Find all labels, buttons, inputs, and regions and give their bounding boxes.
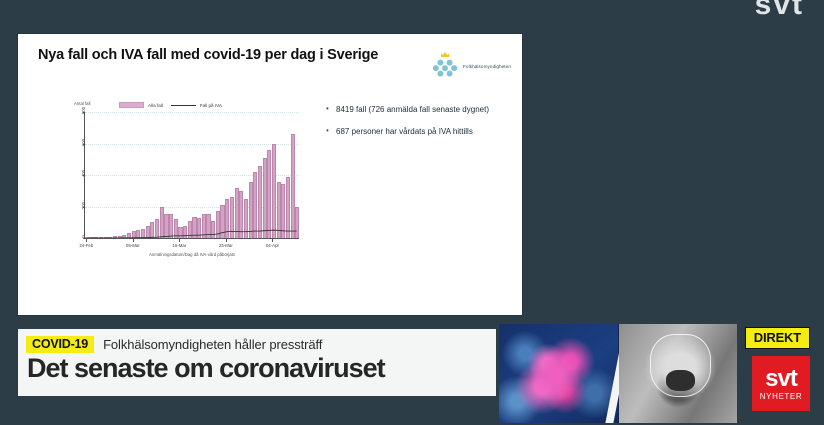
svt-watermark: svt [755,0,804,22]
chart-x-tick-mark [86,239,87,242]
bullet-item: 687 personer har vårdats på IVA hittills [324,126,514,138]
legend-label-iva: Fall på IVA [200,103,222,108]
folkhalsomyndigheten-logo: Folkhälsomyndigheten [431,51,511,81]
banner-headline: Det senaste om coronaviruset [18,353,496,383]
fohm-circles-icon [431,58,459,80]
chart-x-tick-label: 05-Mar [126,243,140,248]
legend-item-line: Fall på IVA [171,103,222,108]
fohm-logo-label: Folkhälsomyndigheten [463,64,511,69]
chart-x-tick-label: 15-Mar [172,243,186,248]
slide-title: Nya fall och IVA fall med covid-19 per d… [38,46,418,65]
chart-y-tick-label: 400 [81,170,86,177]
lower-third-banner: COVID-19 Folkhälsomyndigheten håller pre… [18,329,496,396]
chart-iva-line [85,112,299,238]
covid-19-tag: COVID-19 [26,336,94,353]
legend-label-alla-fall: Alla fall [148,103,163,108]
chart-plot-area [85,112,299,238]
presentation-slide: Nya fall och IVA fall med covid-19 per d… [18,34,522,315]
banner-subtitle: Folkhälsomyndigheten håller pressträff [103,337,322,352]
coronavirus-micrograph-thumbnail [499,324,618,423]
chart-x-tick-mark [272,239,273,242]
svt-nyheter-logo: svt NYHETER [752,356,810,411]
chart-x-tick-mark [179,239,180,242]
banner-subtitle-row: COVID-19 Folkhälsomyndigheten håller pre… [18,329,496,353]
healthcare-worker-ppe-thumbnail [619,324,737,423]
fohm-mark-icon [431,51,459,81]
chart-y-axis: 0200400600800 [84,112,85,238]
svt-logo-word: svt [765,368,797,391]
respirator-mask-icon [666,370,694,392]
slide-bullet-list: 8419 fall (726 anmälda fall senaste dygn… [324,104,514,147]
broadcast-screen: svt Nya fall och IVA fall med covid-19 p… [0,0,824,425]
chart-x-tick-label: 24-Feb [79,243,93,248]
chart-x-tick-mark [226,239,227,242]
chart-y-tick-label: 200 [81,201,86,208]
chart-x-tick-mark [133,239,134,242]
svt-logo-subtitle: NYHETER [760,392,802,401]
thumbnail-strip [499,324,737,423]
legend-line-icon [171,105,196,106]
chart-x-axis-title: Anmälningsdatum/Dag då IVA-vård påbörjat… [85,252,299,257]
chart-x-tick-label: 04-Apr [266,243,279,248]
chart-y-axis-title: Antal fall [74,101,90,106]
legend-swatch-icon [119,102,144,108]
chart-y-tick-label: 800 [81,107,86,114]
legend-item-bars: Alla fall [119,102,163,108]
chart-x-axis: 24-Feb05-Mar15-Mar25-Mar04-Apr [84,238,299,239]
covid-cases-chart: Antal fall Alla fall Fall på IVA 0200400… [57,100,311,290]
chart-legend: Alla fall Fall på IVA [119,102,222,108]
chart-y-tick-label: 600 [81,138,86,145]
crown-icon [440,51,450,58]
chart-x-tick-label: 25-Mar [219,243,233,248]
direkt-badge: DIREKT [745,327,810,349]
bullet-item: 8419 fall (726 anmälda fall senaste dygn… [324,104,514,116]
